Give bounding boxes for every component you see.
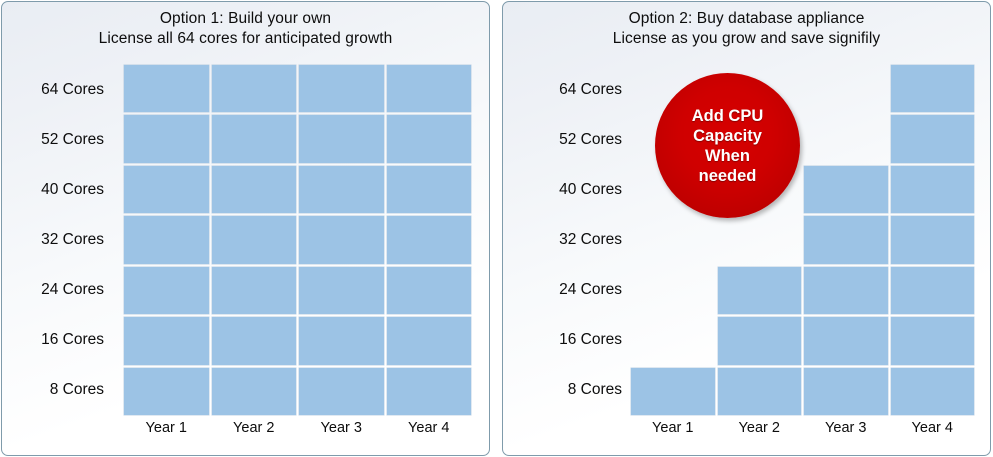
bar-column-year-3	[804, 65, 888, 415]
bar-block-empty	[718, 216, 802, 263]
chart-1-y-axis: 64 Cores 52 Cores 40 Cores 32 Cores 24 C…	[2, 65, 113, 415]
chart-2-y-axis: 64 Cores 52 Cores 40 Cores 32 Cores 24 C…	[513, 65, 631, 415]
panel-2-title-line-2: License as you grow and save signifily	[503, 29, 990, 49]
bar-block-empty	[631, 267, 715, 314]
bar-block	[387, 216, 472, 263]
bar-block	[299, 267, 384, 314]
bar-block	[891, 115, 975, 162]
y-axis-label-40: 40 Cores	[513, 165, 631, 215]
bar-block	[299, 115, 384, 162]
y-axis-label-40: 40 Cores	[2, 165, 113, 215]
bar-block	[631, 368, 715, 415]
bar-block	[124, 166, 209, 213]
bar-block	[891, 267, 975, 314]
panel-2-title-line-1: Option 2: Buy database appliance	[503, 9, 990, 29]
bar-block-empty	[631, 317, 715, 364]
bar-block	[299, 166, 384, 213]
bar-block	[299, 216, 384, 263]
y-axis-label-24: 24 Cores	[2, 265, 113, 315]
bar-column-year-2	[212, 65, 297, 415]
panel-1-title-line-2: License all 64 cores for anticipated gro…	[2, 29, 489, 49]
chart-option-1: 64 Cores 52 Cores 40 Cores 32 Cores 24 C…	[2, 52, 490, 456]
bar-block	[891, 368, 975, 415]
badge-line-3: When	[705, 146, 750, 166]
bar-column-year-3	[299, 65, 384, 415]
bar-column-year-1	[124, 65, 209, 415]
bar-block	[124, 216, 209, 263]
panel-2-title: Option 2: Buy database appliance License…	[503, 9, 990, 49]
badge-line-2: Capacity	[693, 126, 762, 146]
bar-block	[299, 368, 384, 415]
x-axis-label-year-4: Year 4	[387, 420, 472, 436]
x-axis-label-year-2: Year 2	[718, 420, 802, 436]
add-cpu-capacity-badge: Add CPU Capacity When needed	[655, 73, 800, 218]
bar-block	[804, 368, 888, 415]
y-axis-label-32: 32 Cores	[513, 215, 631, 265]
badge-line-1: Add CPU	[692, 106, 764, 126]
bar-block	[718, 368, 802, 415]
x-axis-label-year-2: Year 2	[212, 420, 297, 436]
bar-block	[718, 267, 802, 314]
bar-block	[212, 65, 297, 112]
y-axis-label-52: 52 Cores	[513, 115, 631, 165]
bar-block	[387, 65, 472, 112]
bar-block	[891, 317, 975, 364]
bar-block	[124, 267, 209, 314]
bar-block	[387, 267, 472, 314]
bar-block	[212, 115, 297, 162]
bar-block	[891, 216, 975, 263]
bar-block	[212, 216, 297, 263]
x-axis-label-year-4: Year 4	[891, 420, 975, 436]
y-axis-label-64: 64 Cores	[513, 65, 631, 115]
y-axis-label-64: 64 Cores	[2, 65, 113, 115]
bar-block	[387, 317, 472, 364]
slide-root: Option 1: Build your own License all 64 …	[0, 0, 993, 457]
y-axis-label-8: 8 Cores	[2, 365, 113, 415]
panel-1-title: Option 1: Build your own License all 64 …	[2, 9, 489, 49]
bar-block	[804, 216, 888, 263]
badge-line-4: needed	[699, 166, 757, 186]
bar-block	[718, 317, 802, 364]
bar-block	[804, 317, 888, 364]
bar-block	[212, 317, 297, 364]
y-axis-label-52: 52 Cores	[2, 115, 113, 165]
bar-block	[387, 368, 472, 415]
y-axis-label-32: 32 Cores	[2, 215, 113, 265]
bar-block	[212, 267, 297, 314]
chart-1-x-axis: Year 1 Year 2 Year 3 Year 4	[124, 420, 471, 436]
bar-block	[299, 65, 384, 112]
bar-block-empty	[804, 65, 888, 112]
bar-block	[804, 166, 888, 213]
bar-block	[212, 166, 297, 213]
panel-1-title-line-1: Option 1: Build your own	[2, 9, 489, 29]
y-axis-label-16: 16 Cores	[513, 315, 631, 365]
bar-block	[124, 115, 209, 162]
bar-column-year-4	[891, 65, 975, 415]
bar-block	[124, 65, 209, 112]
y-axis-label-24: 24 Cores	[513, 265, 631, 315]
chart-option-2: Add CPU Capacity When needed 64 Cores 52…	[503, 52, 991, 456]
x-axis-label-year-1: Year 1	[124, 420, 209, 436]
x-axis-label-year-3: Year 3	[804, 420, 888, 436]
chart-1-plot-area	[124, 65, 471, 415]
panel-option-1: Option 1: Build your own License all 64 …	[1, 1, 490, 456]
y-axis-label-16: 16 Cores	[2, 315, 113, 365]
bar-block	[212, 368, 297, 415]
bar-block	[124, 317, 209, 364]
bar-block	[804, 267, 888, 314]
chart-2-x-axis: Year 1 Year 2 Year 3 Year 4	[631, 420, 974, 436]
x-axis-label-year-3: Year 3	[299, 420, 384, 436]
panel-option-2: Option 2: Buy database appliance License…	[502, 1, 991, 456]
bar-block	[891, 65, 975, 112]
bar-block	[299, 317, 384, 364]
bar-block	[387, 166, 472, 213]
bar-block	[387, 115, 472, 162]
y-axis-label-8: 8 Cores	[513, 365, 631, 415]
bar-block	[124, 368, 209, 415]
bar-block-empty	[631, 216, 715, 263]
bar-block-empty	[804, 115, 888, 162]
bar-block	[891, 166, 975, 213]
bar-column-year-4	[387, 65, 472, 415]
x-axis-label-year-1: Year 1	[631, 420, 715, 436]
